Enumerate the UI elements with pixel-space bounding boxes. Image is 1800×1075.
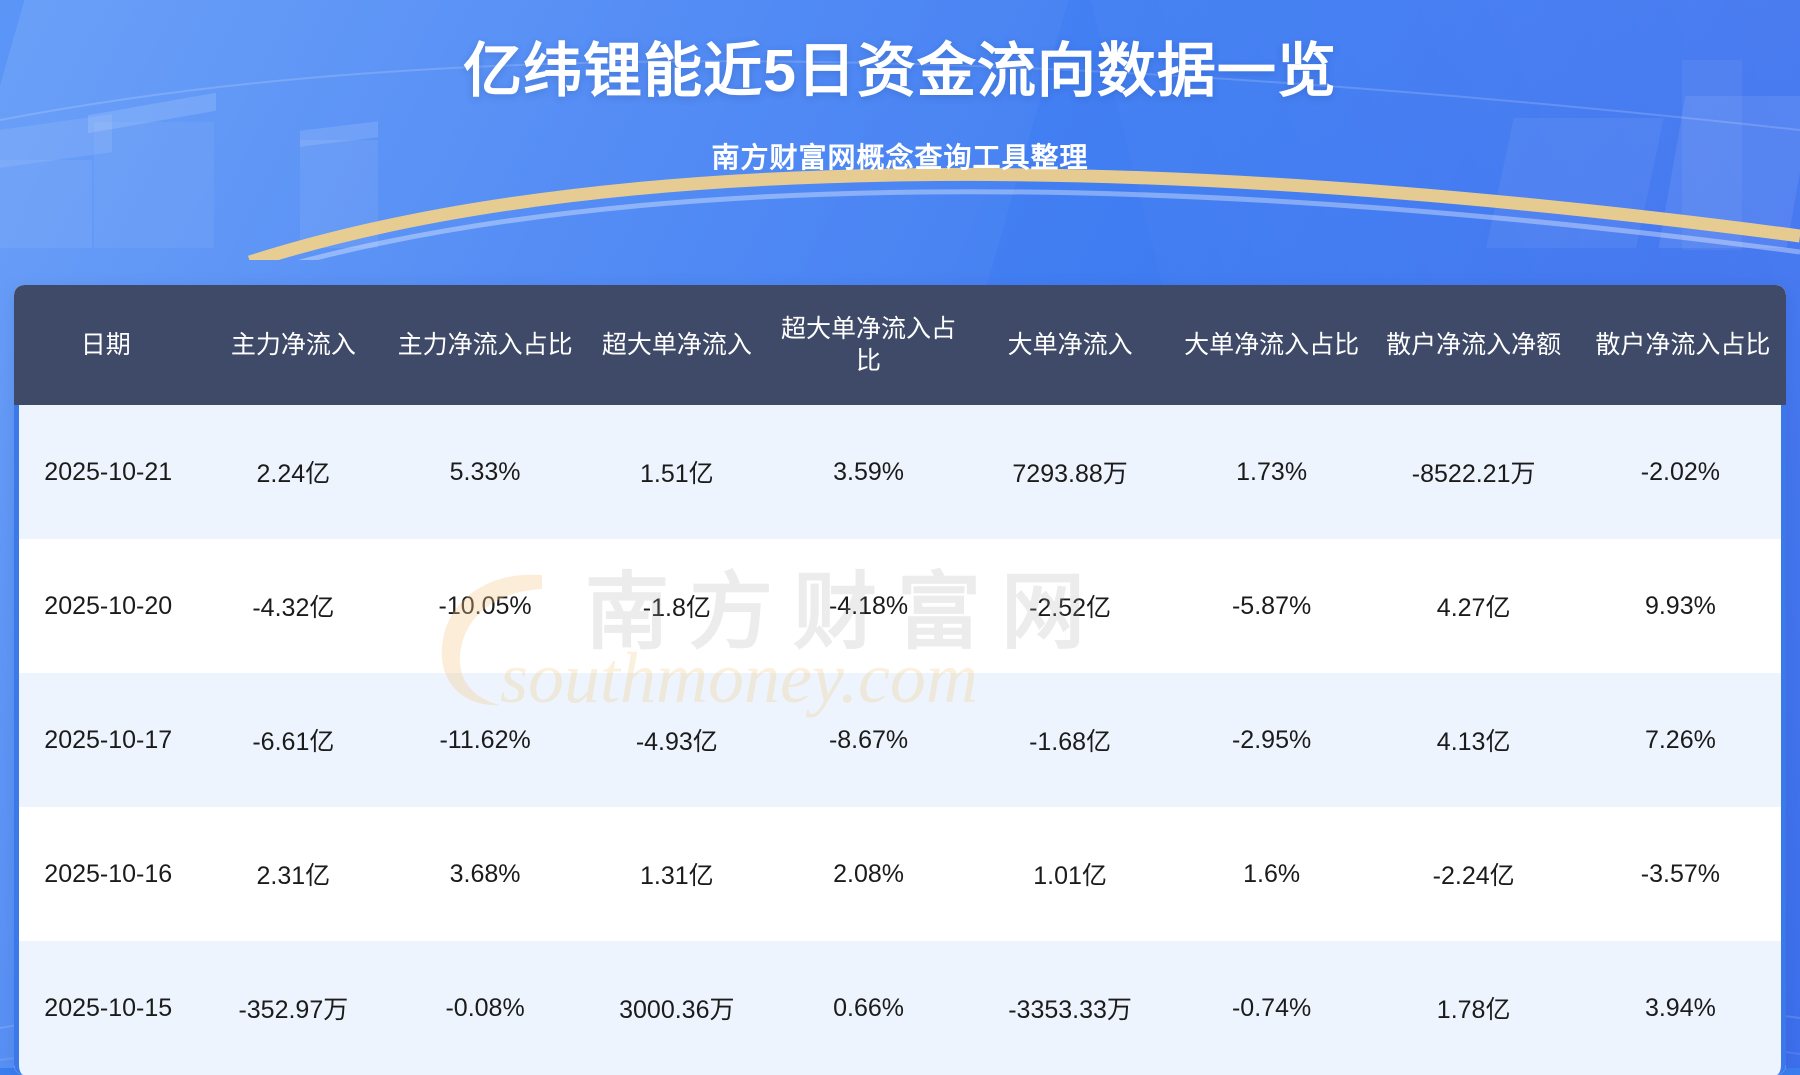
cell-main-net-inflow-pct: -11.62% — [389, 673, 581, 807]
cell-retail-net-inflow: 4.13亿 — [1367, 673, 1579, 807]
page-header: 亿纬锂能近5日资金流向数据一览 南方财富网概念查询工具整理 — [0, 0, 1800, 176]
column-header-main-net-inflow-pct[interactable]: 主力净流入占比 — [389, 285, 581, 405]
cell-super-large-net-inflow-pct: 0.66% — [773, 941, 965, 1075]
cell-super-large-net-inflow-pct: 2.08% — [773, 807, 965, 941]
cell-main-net-inflow-pct: -0.08% — [389, 941, 581, 1075]
table-body: 2025-10-21 2.24亿 5.33% 1.51亿 3.59% 7293.… — [14, 405, 1786, 1075]
fund-flow-table: 日期 主力净流入 主力净流入占比 超大单净流入 超大单净流入占比 大单净流入 大… — [14, 285, 1786, 1075]
cell-main-net-inflow-pct: -10.05% — [389, 539, 581, 673]
cell-retail-net-inflow-pct: -2.02% — [1580, 405, 1786, 539]
cell-retail-net-inflow: -8522.21万 — [1367, 405, 1579, 539]
cell-date: 2025-10-16 — [14, 807, 197, 941]
cell-date: 2025-10-17 — [14, 673, 197, 807]
cell-large-net-inflow: 1.01亿 — [964, 807, 1175, 941]
page-subtitle: 南方财富网概念查询工具整理 — [0, 106, 1800, 176]
cell-super-large-net-inflow: 1.51亿 — [581, 405, 773, 539]
cell-large-net-inflow: -3353.33万 — [964, 941, 1175, 1075]
cell-large-net-inflow-pct: -2.95% — [1176, 673, 1368, 807]
column-header-large-net-inflow[interactable]: 大单净流入 — [964, 285, 1175, 405]
cell-main-net-inflow: -4.32亿 — [197, 539, 389, 673]
cell-date: 2025-10-20 — [14, 539, 197, 673]
column-header-main-net-inflow[interactable]: 主力净流入 — [197, 285, 389, 405]
column-header-large-net-inflow-pct[interactable]: 大单净流入占比 — [1176, 285, 1368, 405]
cell-main-net-inflow: 2.24亿 — [197, 405, 389, 539]
cell-super-large-net-inflow: 3000.36万 — [581, 941, 773, 1075]
table-row[interactable]: 2025-10-15 -352.97万 -0.08% 3000.36万 0.66… — [14, 941, 1786, 1075]
column-header-super-large-net-inflow[interactable]: 超大单净流入 — [581, 285, 773, 405]
cell-main-net-inflow: -352.97万 — [197, 941, 389, 1075]
cell-retail-net-inflow: 1.78亿 — [1367, 941, 1579, 1075]
page-title: 亿纬锂能近5日资金流向数据一览 — [0, 0, 1800, 106]
cell-large-net-inflow-pct: -0.74% — [1176, 941, 1368, 1075]
cell-super-large-net-inflow: -1.8亿 — [581, 539, 773, 673]
cell-large-net-inflow: 7293.88万 — [964, 405, 1175, 539]
cell-main-net-inflow: 2.31亿 — [197, 807, 389, 941]
table-row[interactable]: 2025-10-17 -6.61亿 -11.62% -4.93亿 -8.67% … — [14, 673, 1786, 807]
cell-large-net-inflow-pct: 1.73% — [1176, 405, 1368, 539]
cell-large-net-inflow: -1.68亿 — [964, 673, 1175, 807]
table-row[interactable]: 2025-10-21 2.24亿 5.33% 1.51亿 3.59% 7293.… — [14, 405, 1786, 539]
table-header-row: 日期 主力净流入 主力净流入占比 超大单净流入 超大单净流入占比 大单净流入 大… — [14, 285, 1786, 405]
fund-flow-table-container: 日期 主力净流入 主力净流入占比 超大单净流入 超大单净流入占比 大单净流入 大… — [14, 285, 1786, 1075]
cell-retail-net-inflow-pct: 9.93% — [1580, 539, 1786, 673]
cell-main-net-inflow-pct: 3.68% — [389, 807, 581, 941]
cell-large-net-inflow-pct: -5.87% — [1176, 539, 1368, 673]
cell-super-large-net-inflow: -4.93亿 — [581, 673, 773, 807]
column-header-date[interactable]: 日期 — [14, 285, 197, 405]
cell-retail-net-inflow: 4.27亿 — [1367, 539, 1579, 673]
cell-retail-net-inflow: -2.24亿 — [1367, 807, 1579, 941]
table-row[interactable]: 2025-10-20 -4.32亿 -10.05% -1.8亿 -4.18% -… — [14, 539, 1786, 673]
cell-retail-net-inflow-pct: 7.26% — [1580, 673, 1786, 807]
cell-large-net-inflow: -2.52亿 — [964, 539, 1175, 673]
cell-retail-net-inflow-pct: 3.94% — [1580, 941, 1786, 1075]
column-header-retail-net-inflow-pct[interactable]: 散户净流入占比 — [1580, 285, 1786, 405]
cell-date: 2025-10-21 — [14, 405, 197, 539]
cell-super-large-net-inflow: 1.31亿 — [581, 807, 773, 941]
column-header-super-large-net-inflow-pct[interactable]: 超大单净流入占比 — [773, 285, 965, 405]
cell-super-large-net-inflow-pct: -4.18% — [773, 539, 965, 673]
cell-super-large-net-inflow-pct: 3.59% — [773, 405, 965, 539]
cell-main-net-inflow: -6.61亿 — [197, 673, 389, 807]
cell-main-net-inflow-pct: 5.33% — [389, 405, 581, 539]
table-row[interactable]: 2025-10-16 2.31亿 3.68% 1.31亿 2.08% 1.01亿… — [14, 807, 1786, 941]
cell-super-large-net-inflow-pct: -8.67% — [773, 673, 965, 807]
cell-retail-net-inflow-pct: -3.57% — [1580, 807, 1786, 941]
cell-large-net-inflow-pct: 1.6% — [1176, 807, 1368, 941]
table-header: 日期 主力净流入 主力净流入占比 超大单净流入 超大单净流入占比 大单净流入 大… — [14, 285, 1786, 405]
column-header-retail-net-inflow[interactable]: 散户净流入净额 — [1367, 285, 1579, 405]
cell-date: 2025-10-15 — [14, 941, 197, 1075]
